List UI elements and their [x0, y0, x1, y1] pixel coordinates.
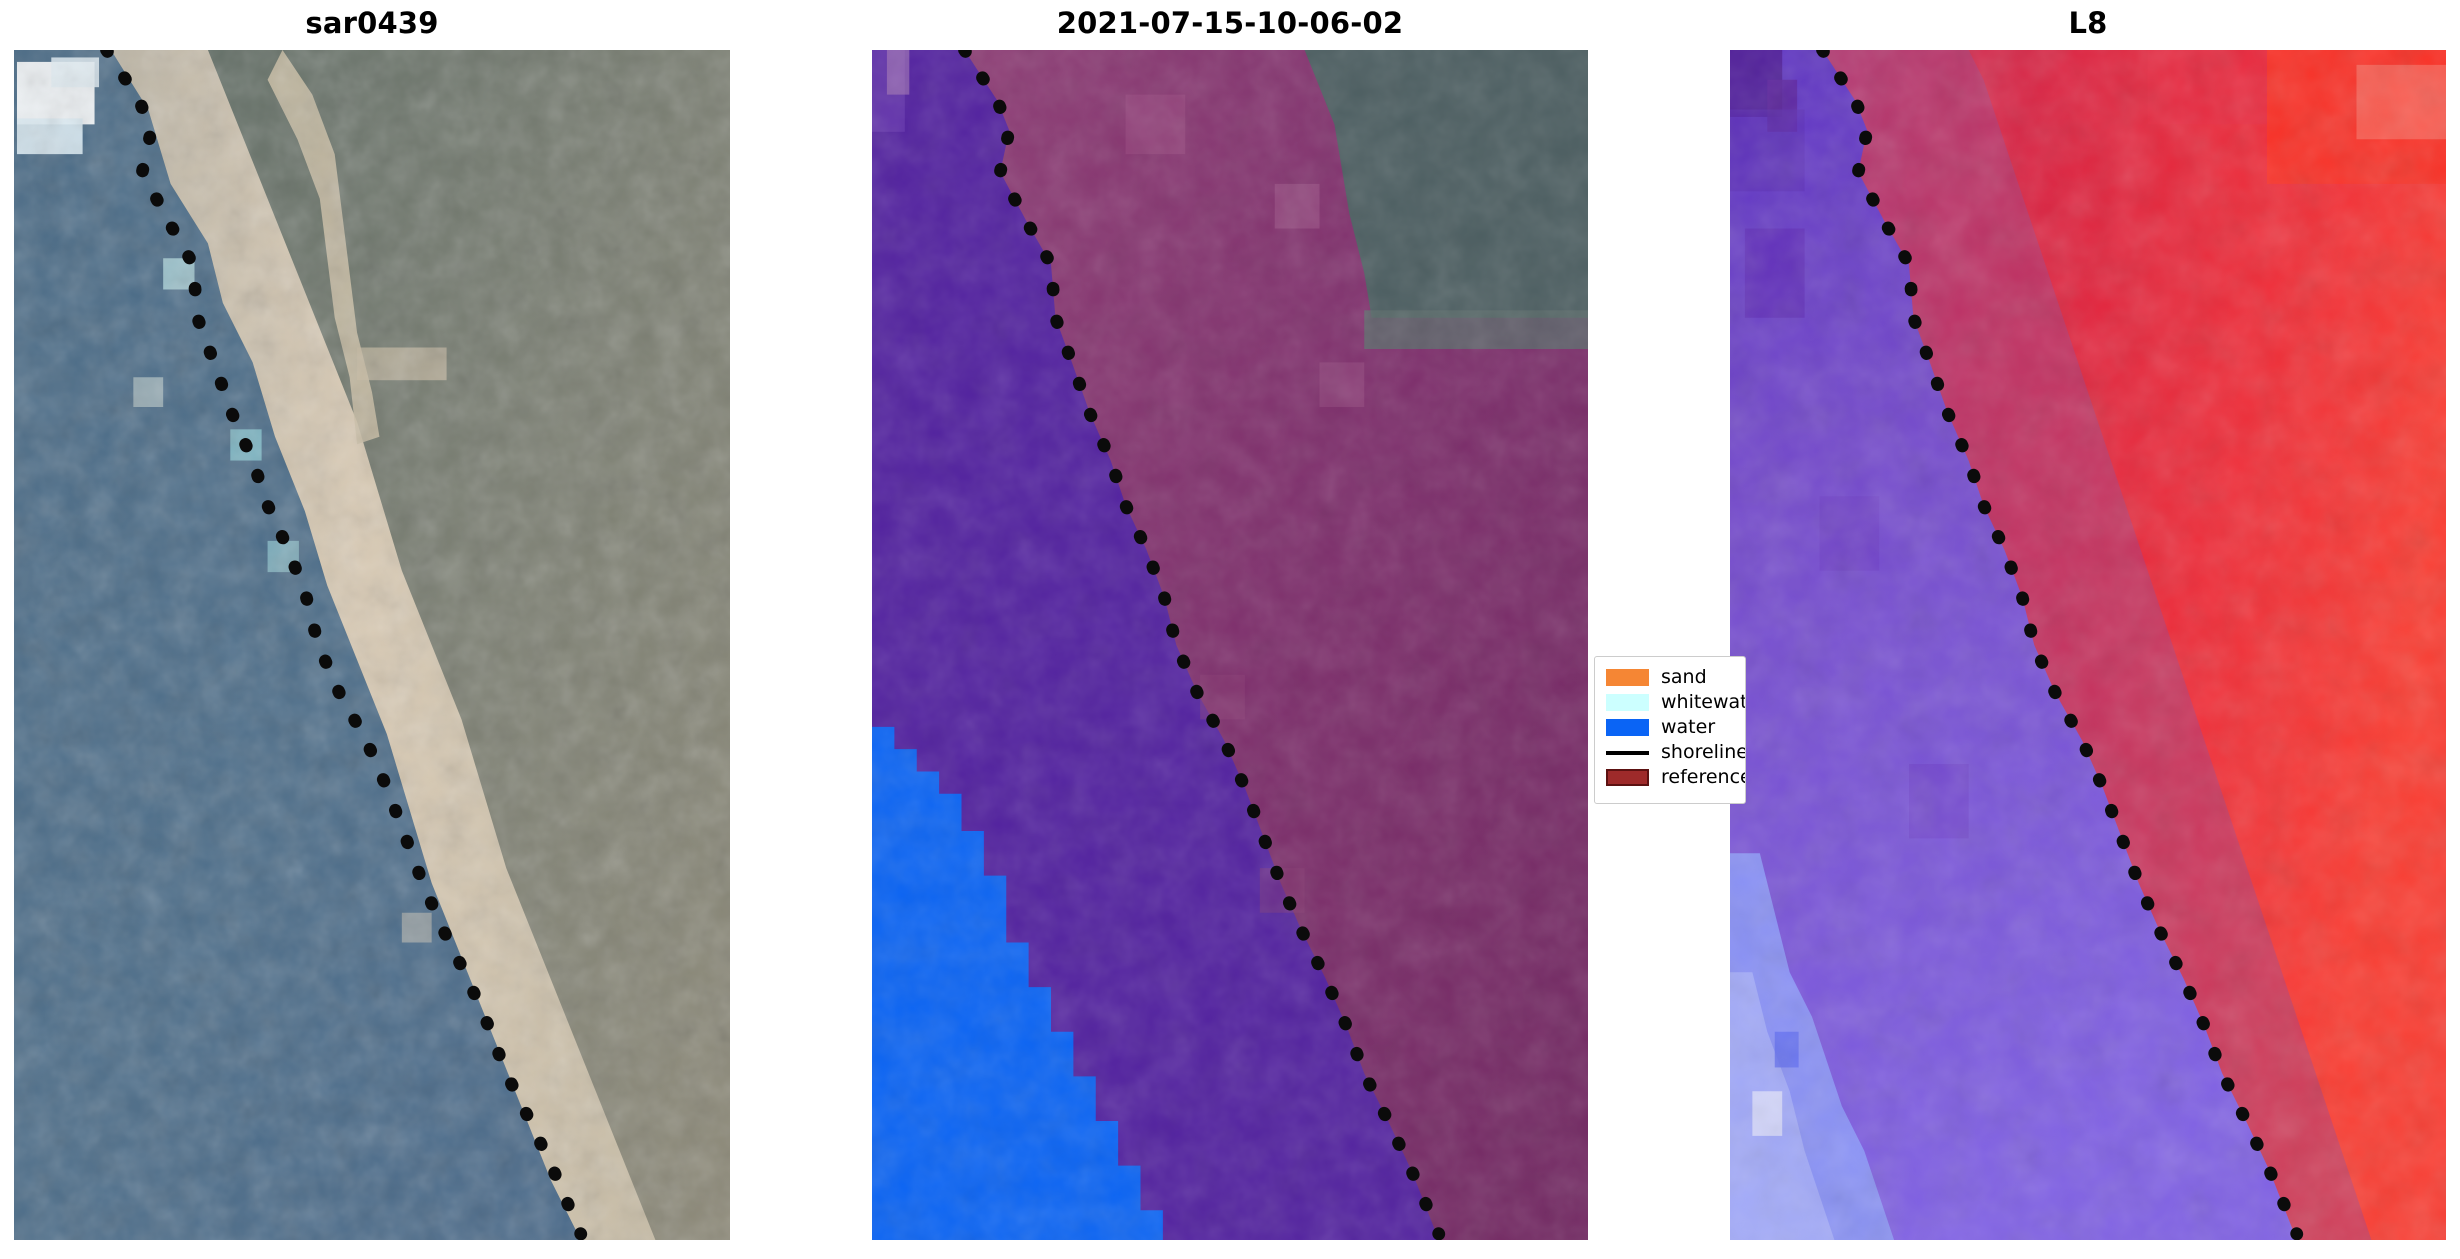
water-swatch-icon: [1606, 719, 1649, 736]
shoreline-overlay-l8: [1730, 50, 2446, 1240]
panel-l8-image: [1730, 50, 2446, 1240]
legend-label-sand: sand: [1661, 668, 1707, 687]
legend-item-reference: reference: [1595, 765, 1745, 790]
legend-item-sand: sand: [1595, 665, 1745, 690]
panel-title-l8: L8: [1730, 6, 2446, 40]
legend-label-whitewater: whitewater: [1661, 693, 1746, 712]
panel-title-sar: sar0439: [14, 6, 730, 40]
panel-sar-image: [14, 50, 730, 1240]
legend-item-whitewater: whitewater: [1595, 690, 1745, 715]
legend-item-shoreline: shoreline: [1595, 740, 1745, 765]
legend-label-shoreline: shoreline: [1661, 743, 1746, 762]
figure-canvas: sar0439 2021-07-15-10-06-02 L8: [0, 0, 2460, 1259]
legend-label-reference: reference: [1661, 768, 1746, 787]
legend-item-water: water: [1595, 715, 1745, 740]
whitewater-swatch-icon: [1606, 694, 1649, 711]
shoreline-line-icon: [1606, 744, 1649, 761]
shoreline-overlay-classification: [872, 50, 1588, 1240]
panel-title-classification: 2021-07-15-10-06-02: [872, 6, 1588, 40]
legend-label-water: water: [1661, 718, 1715, 737]
reference-swatch-icon: [1606, 769, 1649, 786]
legend: sand whitewater water shoreline referenc…: [1594, 656, 1746, 804]
shoreline-overlay-sar: [14, 50, 730, 1240]
panel-classification-image: [872, 50, 1588, 1240]
sand-swatch-icon: [1606, 669, 1649, 686]
